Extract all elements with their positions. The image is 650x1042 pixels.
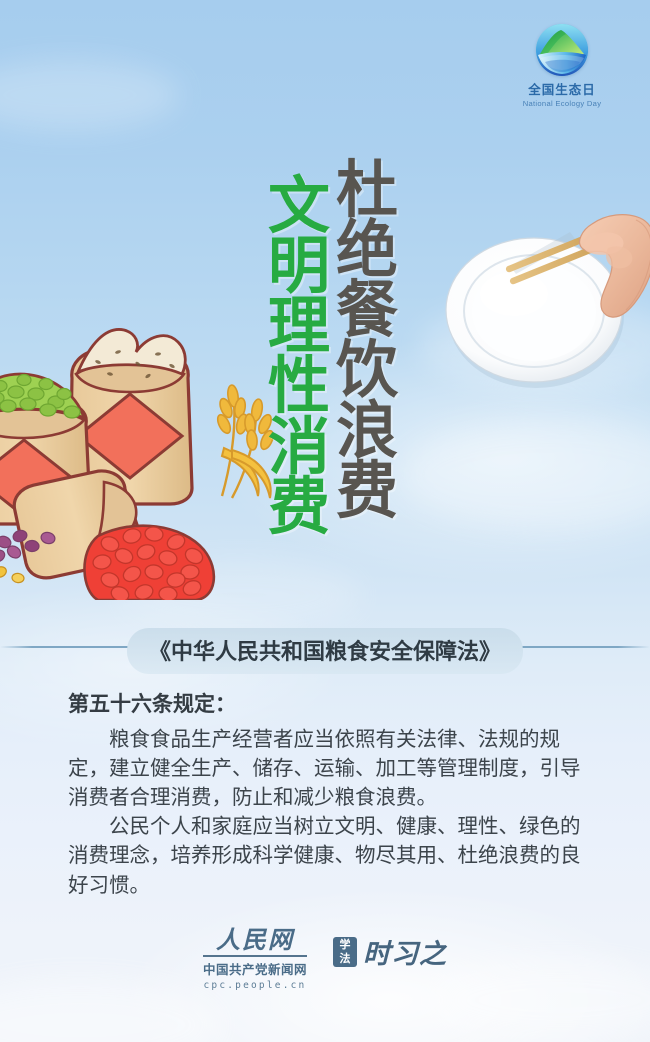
divider-line-left: [0, 646, 128, 648]
people-daily-logo[interactable]: 人民网 中国共产党新闻网 cpc.people.cn: [203, 928, 307, 991]
shixizhi-wordmark: 时习之: [363, 932, 447, 971]
empty-plate-with-chopsticks-icon: [440, 190, 650, 395]
law-article-block: 第五十六条规定： 粮食食品生产经营者应当依照有关法律、法规的规定，建立健全生产、…: [68, 688, 588, 900]
divider-line-right: [522, 646, 650, 648]
xuefa-badge-bottom: 法: [333, 952, 357, 966]
brand-logo: 全国生态日 National Ecology Day: [512, 24, 612, 108]
title-char: 餐: [336, 280, 398, 340]
title-char: 消: [268, 417, 330, 477]
page-title: 杜 绝 餐 饮 浪 费 文 明 理 性 消 费: [268, 160, 398, 537]
people-daily-url[interactable]: cpc.people.cn: [203, 980, 307, 991]
people-daily-wordmark: 人民网: [203, 928, 307, 952]
article-paragraph: 粮食食品生产经营者应当依照有关法律、法规的规定，建立健全生产、储存、运输、加工等…: [68, 725, 588, 812]
xuefa-badge: 学 法: [333, 937, 357, 967]
title-char: 理: [268, 296, 330, 356]
title-char: 饮: [336, 340, 398, 400]
cloud-decor: [0, 60, 180, 130]
xuefa-shixizhi-logo[interactable]: 学 法 时习之: [333, 932, 447, 971]
grain-sacks-illustration-icon: [0, 300, 286, 600]
title-char: 费: [336, 461, 398, 521]
title-char: 明: [268, 236, 330, 296]
article-paragraph: 公民个人和家庭应当树立文明、健康、理性、绿色的消费理念，培养形成科学健康、物尽其…: [68, 812, 588, 899]
footer-logos: 人民网 中国共产党新闻网 cpc.people.cn 学 法 时习之: [0, 928, 650, 991]
title-char: 文: [268, 176, 330, 236]
poster-root: 全国生态日 National Ecology Day: [0, 0, 650, 1042]
people-daily-subtitle: 中国共产党新闻网: [203, 959, 307, 978]
title-char: 费: [268, 477, 330, 537]
article-heading: 第五十六条规定：: [68, 688, 588, 718]
ecology-mountain-water-logo-icon: [536, 24, 588, 76]
brand-name-cn: 全国生态日: [512, 79, 612, 98]
title-char: 浪: [336, 401, 398, 461]
cloud-decor: [400, 420, 650, 530]
title-char: 杜: [336, 160, 398, 220]
xuefa-badge-top: 学: [333, 938, 357, 952]
people-daily-rule: [203, 955, 307, 957]
title-column-gray: 杜 绝 餐 饮 浪 费: [336, 160, 398, 537]
title-column-green: 文 明 理 性 消 费: [268, 176, 330, 537]
brand-name-en: National Ecology Day: [512, 99, 612, 108]
title-char: 性: [268, 356, 330, 416]
title-char: 绝: [336, 220, 398, 280]
law-title-badge: 《中华人民共和国粮食安全保障法》: [127, 628, 523, 674]
